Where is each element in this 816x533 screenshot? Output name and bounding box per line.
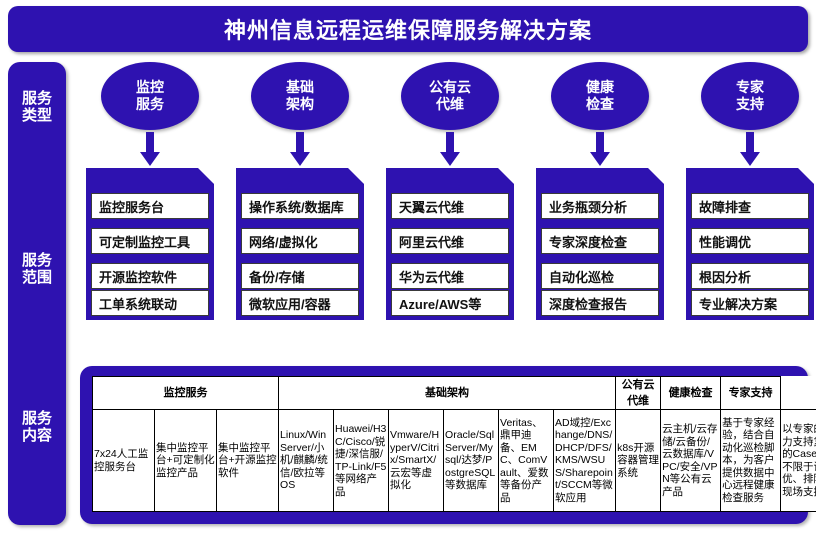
down-arrow-icon-expert (740, 132, 760, 170)
scope-card-health: 业务瓶颈分析 专家深度检查 自动化巡检 深度检查报告 (536, 168, 664, 320)
scope-item-label: 天翼云代维 (392, 197, 464, 216)
scope-item-label: 专业解决方案 (692, 294, 777, 313)
table-header-infra: 基础架构 (279, 377, 616, 410)
scope-item-label: 阿里云代维 (392, 232, 464, 251)
category-ellipse-expert-label: 专家支持 (736, 79, 764, 113)
category-ellipse-health[interactable]: 健康检查 (551, 62, 649, 130)
down-arrow-icon-monitor (140, 132, 160, 170)
scope-item-label: 专家深度检查 (542, 232, 627, 251)
scope-item-label: 监控服务台 (92, 197, 164, 216)
rail-label-service-type: 服务 类型 (8, 90, 66, 124)
scope-item-label: 性能调优 (692, 232, 751, 251)
table-cell: k8s开源容器管理系统 (616, 410, 661, 512)
category-ellipse-publiccloud[interactable]: 公有云代维 (401, 62, 499, 130)
scope-item[interactable]: Azure/AWS等 (391, 290, 509, 316)
rail-label-service-scope: 服务 范围 (8, 252, 66, 286)
scope-item[interactable]: 业务瓶颈分析 (541, 193, 659, 219)
scope-item[interactable]: 网络/虚拟化 (241, 228, 359, 254)
scope-item[interactable]: 微软应用/容器 (241, 290, 359, 316)
category-rail: 服务 类型 服务 范围 服务 内容 (8, 62, 66, 525)
scope-item-label: 根因分析 (692, 267, 751, 286)
scope-item-label: 业务瓶颈分析 (542, 197, 627, 216)
service-content-panel: 监控服务 基础架构 公有云代维 健康检查 专家支持 7x24人工监控服务台 集中… (80, 366, 808, 524)
scope-item[interactable]: 专家深度检查 (541, 228, 659, 254)
scope-item[interactable]: 阿里云代维 (391, 228, 509, 254)
category-ellipse-expert[interactable]: 专家支持 (701, 62, 799, 130)
scope-card-monitor: 监控服务台 可定制监控工具 开源监控软件 工单系统联动 (86, 168, 214, 320)
scope-item-label: 华为云代维 (392, 267, 464, 286)
table-cell: Linux/Win Server/小机/麒麟/统信/欧拉等OS (279, 410, 334, 512)
category-ellipse-health-label: 健康检查 (586, 79, 614, 113)
table-cell: 基于专家经验，结合自动化巡检脚本，为客户提供数据中心远程健康检查服务 (721, 410, 781, 512)
category-ellipse-publiccloud-label: 公有云代维 (429, 79, 471, 113)
table-cell: 以专家的能力支持复杂的Case，不限于调优、排障、现场支持 (781, 410, 816, 512)
scope-item[interactable]: 华为云代维 (391, 263, 509, 289)
table-cell: Huawei/H3C/Cisco/锐捷/深信服/TP-Link/F5等网络产品 (334, 410, 389, 512)
scope-item-label: 备份/存储 (242, 267, 305, 286)
down-arrow-icon-infra (290, 132, 310, 170)
category-ellipse-monitor-label: 监控服务 (136, 79, 164, 113)
rail-label-service-type-line1: 服务 (8, 90, 66, 107)
rail-label-service-scope-line1: 服务 (8, 252, 66, 269)
rail-label-service-content-line1: 服务 (8, 410, 66, 427)
scope-item-label: 操作系统/数据库 (242, 197, 344, 216)
rail-label-service-content-line2: 内容 (8, 427, 66, 444)
table-header-expert: 专家支持 (721, 377, 781, 410)
page-title-text: 神州信息远程运维保障服务解决方案 (224, 13, 592, 45)
scope-item[interactable]: 可定制监控工具 (91, 228, 209, 254)
scope-item-label: 微软应用/容器 (242, 294, 331, 313)
scope-item[interactable]: 故障排查 (691, 193, 809, 219)
scope-card-infra: 操作系统/数据库 网络/虚拟化 备份/存储 微软应用/容器 (236, 168, 364, 320)
table-header-health: 健康检查 (661, 377, 721, 410)
category-ellipse-monitor[interactable]: 监控服务 (101, 62, 199, 130)
table-header-monitor: 监控服务 (93, 377, 279, 410)
table-cell: 云主机/云存储/云备份/云数据库/VPC/安全/VPN等公有云产品 (661, 410, 721, 512)
table-cell: 集中监控平台+可定制化监控产品 (155, 410, 217, 512)
service-content-table: 监控服务 基础架构 公有云代维 健康检查 专家支持 7x24人工监控服务台 集中… (92, 376, 816, 512)
table-cell: Oracle/SqlServer/Mysql/达梦/PostgreSQL等数据库 (444, 410, 499, 512)
table-cell: AD域控/Exchange/DNS/DHCP/DFS/KMS/WSUS/Shar… (554, 410, 616, 512)
category-ellipse-infra-label: 基础架构 (286, 79, 314, 113)
scope-item[interactable]: 工单系统联动 (91, 290, 209, 316)
table-cell: 集中监控平台+开源监控软件 (217, 410, 279, 512)
scope-item[interactable]: 监控服务台 (91, 193, 209, 219)
scope-item[interactable]: 开源监控软件 (91, 263, 209, 289)
scope-card-expert: 故障排查 性能调优 根因分析 专业解决方案 (686, 168, 814, 320)
table-cell: Vmware/HyperV/Citrix/SmartX/云宏等虚拟化 (389, 410, 444, 512)
down-arrow-icon-health (590, 132, 610, 170)
rail-label-service-content: 服务 内容 (8, 410, 66, 444)
scope-item-label: 网络/虚拟化 (242, 232, 318, 251)
scope-item[interactable]: 操作系统/数据库 (241, 193, 359, 219)
table-header-publiccloud: 公有云代维 (616, 377, 661, 410)
scope-item[interactable]: 深度检查报告 (541, 290, 659, 316)
scope-item-label: 故障排查 (692, 197, 751, 216)
down-arrow-icon-publiccloud (440, 132, 460, 170)
scope-item-label: 自动化巡检 (542, 267, 614, 286)
scope-item-label: 可定制监控工具 (92, 232, 190, 251)
scope-item-label: 开源监控软件 (92, 267, 177, 286)
scope-item-label: 工单系统联动 (92, 294, 177, 313)
table-cell: 7x24人工监控服务台 (93, 410, 155, 512)
table-row: 7x24人工监控服务台 集中监控平台+可定制化监控产品 集中监控平台+开源监控软… (93, 410, 816, 512)
rail-label-service-type-line2: 类型 (8, 107, 66, 124)
scope-item[interactable]: 自动化巡检 (541, 263, 659, 289)
rail-label-service-scope-line2: 范围 (8, 269, 66, 286)
scope-item[interactable]: 根因分析 (691, 263, 809, 289)
scope-item[interactable]: 备份/存储 (241, 263, 359, 289)
table-cell: Veritas、鼎甲迪备、EMC、ComVault、爱数等备份产品 (499, 410, 554, 512)
scope-item[interactable]: 专业解决方案 (691, 290, 809, 316)
scope-item-label: 深度检查报告 (542, 294, 627, 313)
category-ellipse-infra[interactable]: 基础架构 (251, 62, 349, 130)
scope-card-publiccloud: 天翼云代维 阿里云代维 华为云代维 Azure/AWS等 (386, 168, 514, 320)
scope-item-label: Azure/AWS等 (392, 294, 481, 313)
table-header-row: 监控服务 基础架构 公有云代维 健康检查 专家支持 (93, 377, 816, 410)
page-title: 神州信息远程运维保障服务解决方案 (8, 6, 808, 52)
scope-item[interactable]: 天翼云代维 (391, 193, 509, 219)
scope-item[interactable]: 性能调优 (691, 228, 809, 254)
diagram-canvas: 神州信息远程运维保障服务解决方案 服务 类型 服务 范围 服务 内容 监控服务 … (0, 0, 816, 533)
